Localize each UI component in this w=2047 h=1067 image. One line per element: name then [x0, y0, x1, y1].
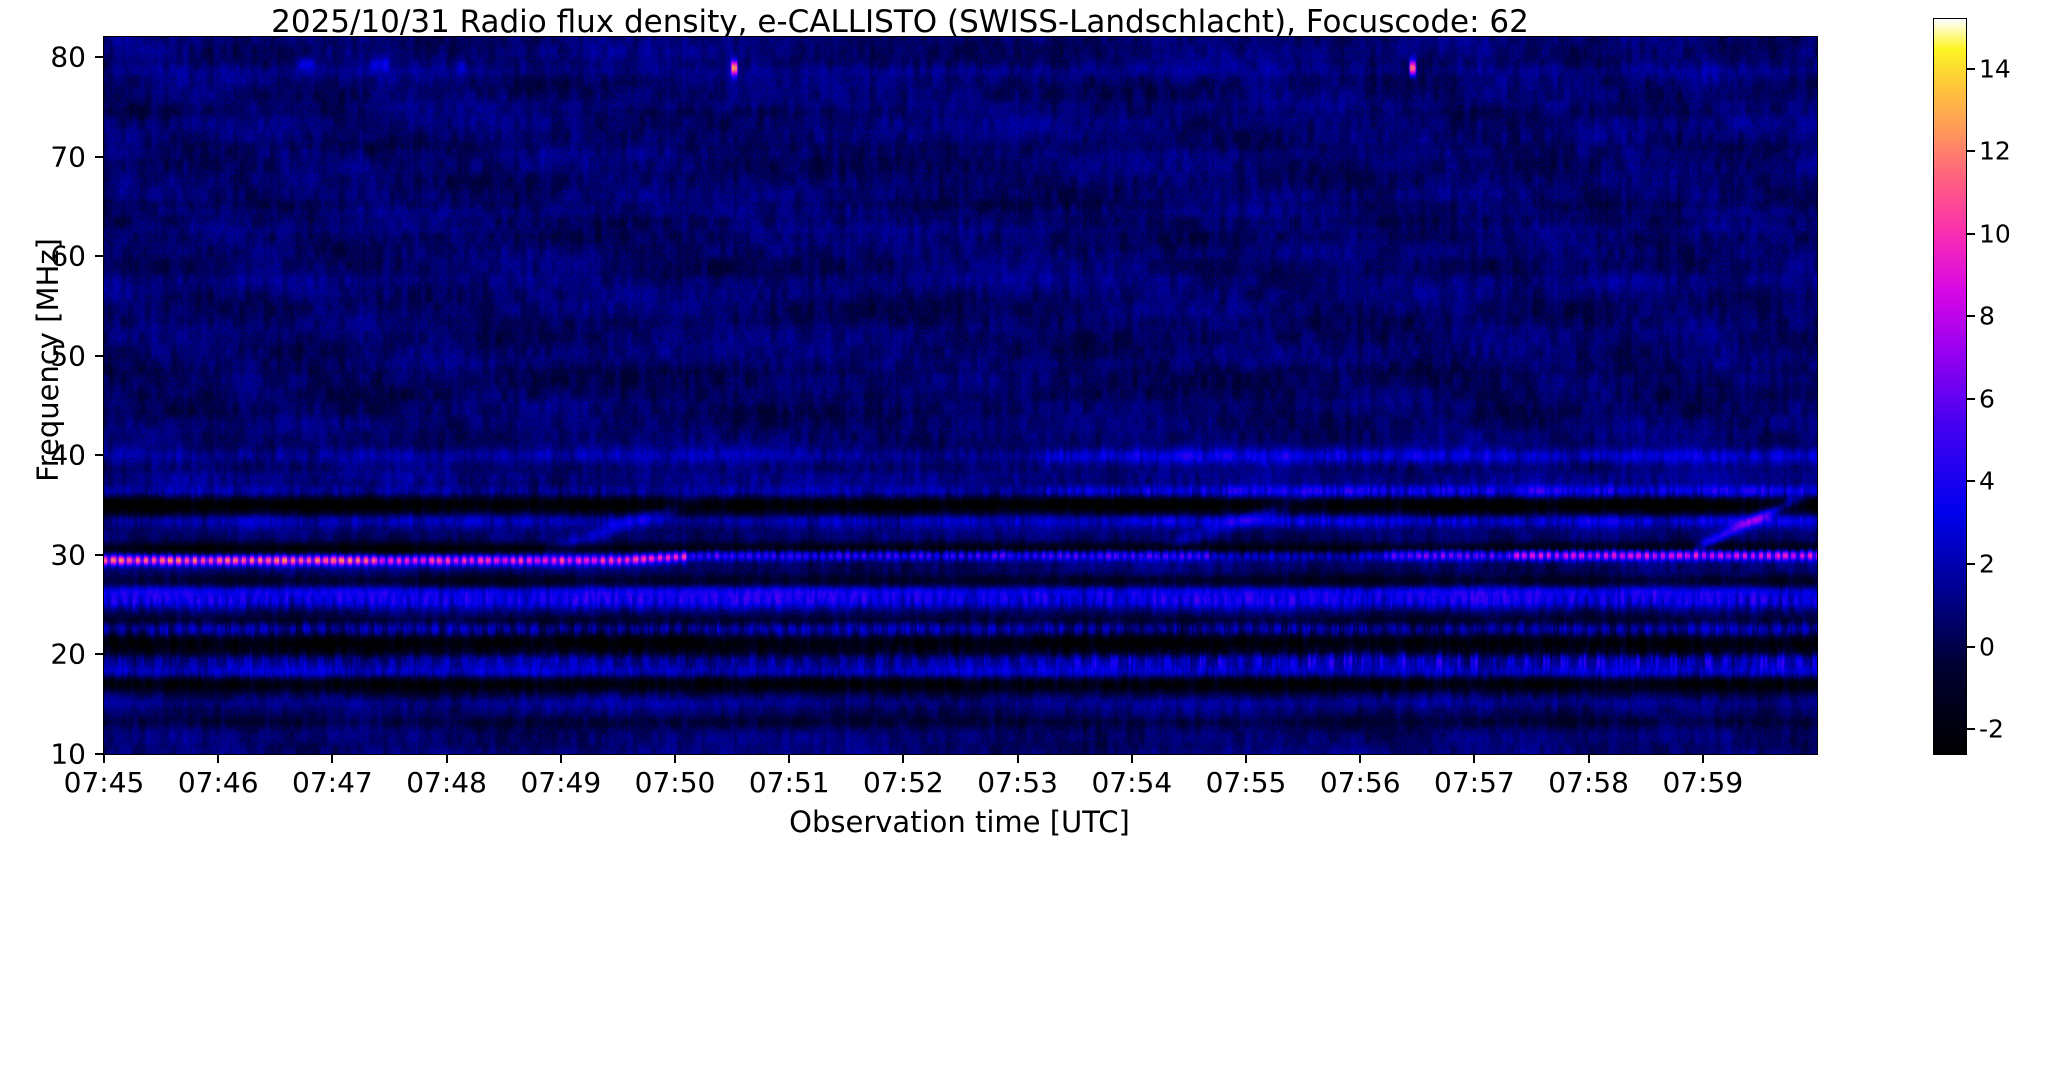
- colorbar-tick-mark: [1967, 398, 1975, 400]
- colorbar-tick-label: 6: [1979, 384, 1995, 413]
- spectrogram-figure: 2025/10/31 Radio flux density, e-CALLIST…: [0, 0, 2047, 1067]
- x-tick-label: 07:51: [749, 766, 830, 799]
- colorbar-tick-label: 0: [1979, 632, 1995, 661]
- colorbar-tick-mark: [1967, 563, 1975, 565]
- colorbar-tick-mark: [1967, 728, 1975, 730]
- x-axis: 07:4507:4607:4707:4807:4907:5007:5107:52…: [0, 0, 2047, 1067]
- x-tick-label: 07:59: [1662, 766, 1743, 799]
- colorbar-tick-mark: [1967, 150, 1975, 152]
- x-tick-mark: [560, 754, 562, 763]
- x-tick-mark: [1473, 754, 1475, 763]
- colorbar-tick-mark: [1967, 68, 1975, 70]
- x-tick-label: 07:58: [1548, 766, 1629, 799]
- x-tick-label: 07:57: [1434, 766, 1515, 799]
- x-tick-label: 07:56: [1320, 766, 1401, 799]
- x-tick-label: 07:54: [1091, 766, 1172, 799]
- x-tick-mark: [217, 754, 219, 763]
- colorbar-tick-mark: [1967, 480, 1975, 482]
- x-tick-mark: [1588, 754, 1590, 763]
- colorbar-tick-label: 2: [1979, 550, 1995, 579]
- x-tick-label: 07:55: [1206, 766, 1287, 799]
- colorbar-tick-mark: [1967, 646, 1975, 648]
- x-tick-mark: [1017, 754, 1019, 763]
- colorbar-tick-mark: [1967, 315, 1975, 317]
- x-tick-mark: [674, 754, 676, 763]
- x-tick-mark: [446, 754, 448, 763]
- x-tick-label: 07:49: [520, 766, 601, 799]
- colorbar-tick-mark: [1967, 233, 1975, 235]
- x-tick-label: 07:50: [635, 766, 716, 799]
- x-tick-mark: [1359, 754, 1361, 763]
- colorbar: [1933, 18, 1967, 755]
- x-tick-mark: [1245, 754, 1247, 763]
- x-tick-mark: [331, 754, 333, 763]
- colorbar-tick-label: 10: [1979, 219, 2011, 248]
- x-axis-label: Observation time [UTC]: [103, 805, 1816, 839]
- colorbar-tick-label: 4: [1979, 467, 1995, 496]
- x-tick-label: 07:52: [863, 766, 944, 799]
- x-tick-mark: [788, 754, 790, 763]
- colorbar-tick-label: 8: [1979, 302, 1995, 331]
- colorbar-tick-label: 12: [1979, 137, 2011, 166]
- x-tick-label: 07:45: [64, 766, 145, 799]
- x-tick-label: 07:48: [406, 766, 487, 799]
- colorbar-tick-label: -2: [1979, 715, 2004, 744]
- x-tick-mark: [1131, 754, 1133, 763]
- colorbar-tick-label: 14: [1979, 54, 2011, 83]
- x-tick-label: 07:47: [292, 766, 373, 799]
- x-tick-mark: [902, 754, 904, 763]
- x-tick-label: 07:46: [178, 766, 259, 799]
- x-tick-mark: [1702, 754, 1704, 763]
- colorbar-gradient: [1934, 19, 1966, 754]
- x-tick-label: 07:53: [977, 766, 1058, 799]
- x-tick-mark: [103, 754, 105, 763]
